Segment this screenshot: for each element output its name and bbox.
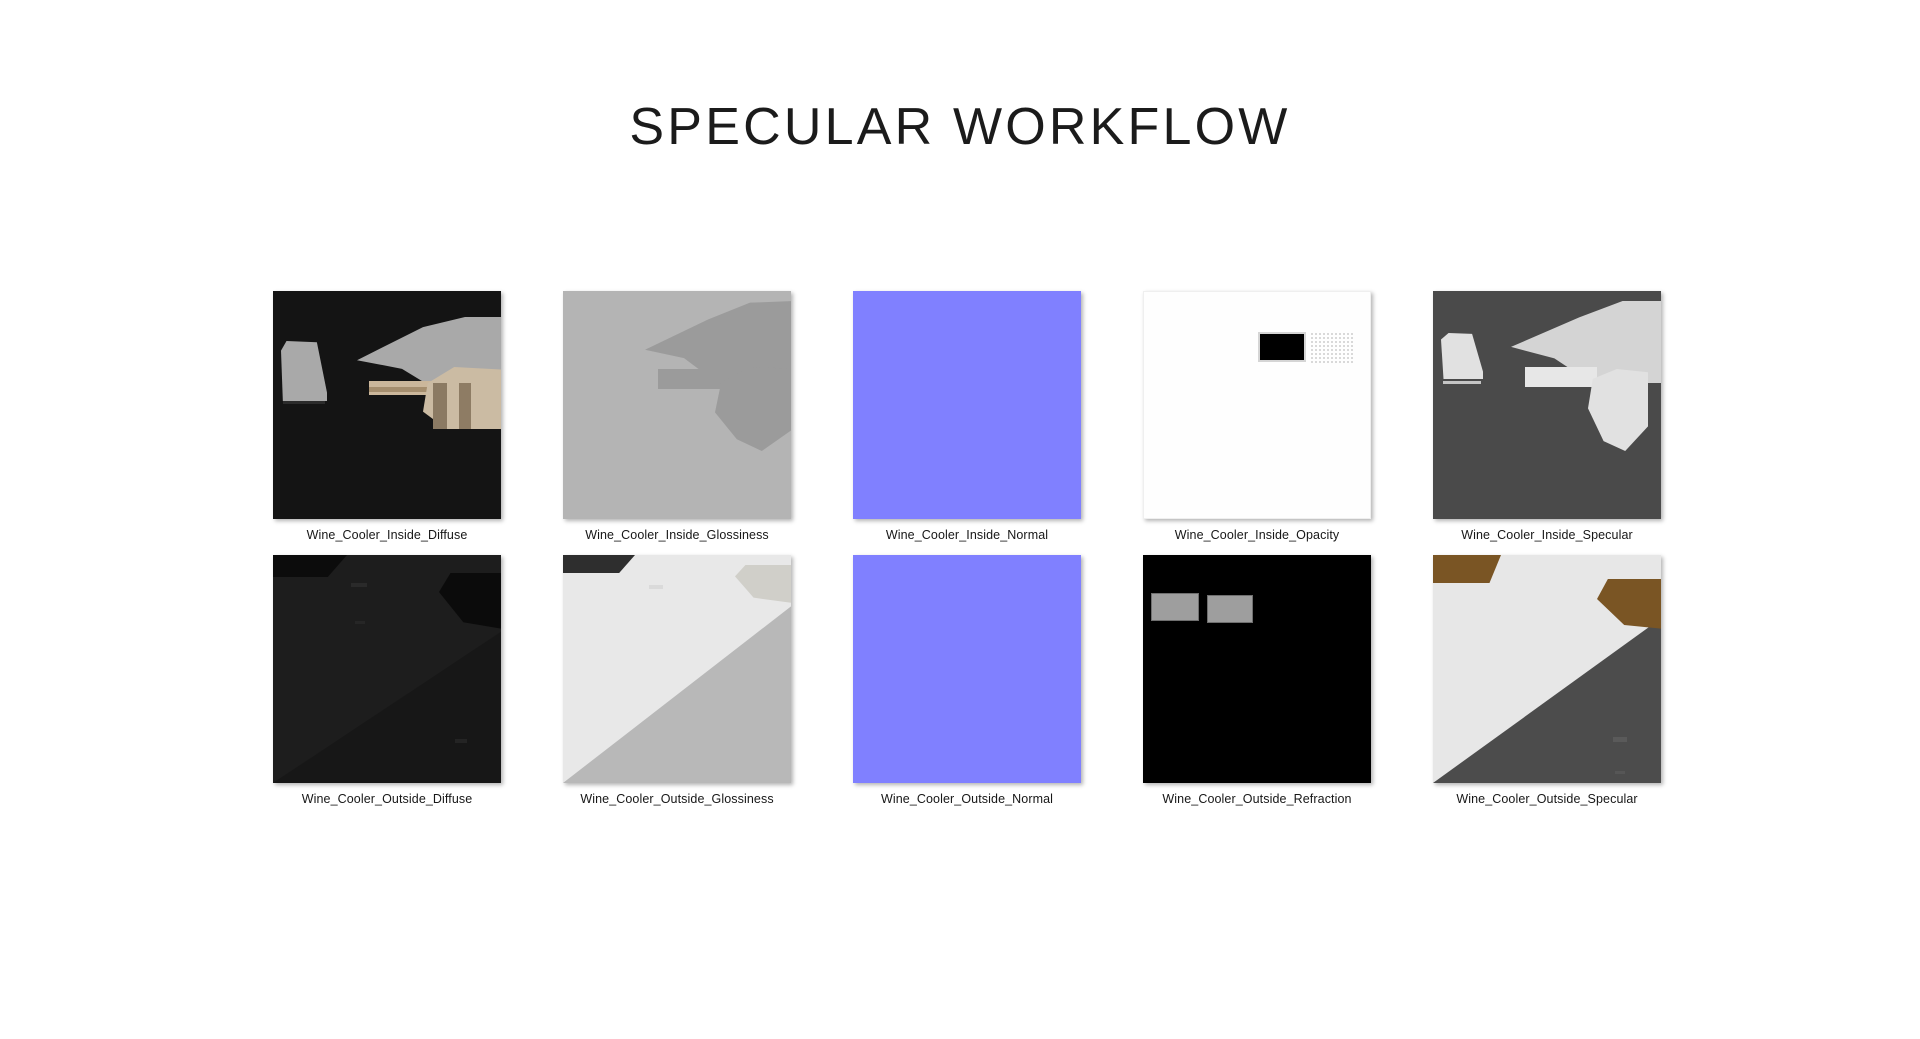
thumbnail-frame[interactable] xyxy=(1432,290,1662,520)
shape-brown-top-left xyxy=(1433,555,1501,583)
thumbnail-frame[interactable] xyxy=(1142,554,1372,784)
thumbnail-frame[interactable] xyxy=(852,554,1082,784)
thumbnail-frame[interactable] xyxy=(272,554,502,784)
texture-label: Wine_Cooler_Inside_Glossiness xyxy=(585,528,769,542)
shape-speck-b xyxy=(355,621,365,624)
texture-preview-outside-diffuse[interactable] xyxy=(273,555,501,783)
page-title: SPECULAR WORKFLOW xyxy=(0,97,1920,157)
texture-cell-outside-diffuse[interactable]: Wine_Cooler_Outside_Diffuse xyxy=(242,554,532,806)
shape-wood-slat-a xyxy=(433,383,447,429)
shape-block xyxy=(1588,369,1648,451)
texture-label: Wine_Cooler_Inside_Specular xyxy=(1461,528,1633,542)
thumbnail-frame[interactable] xyxy=(1432,554,1662,784)
shape-wood-slat-b xyxy=(459,383,471,429)
texture-preview-outside-refraction[interactable] xyxy=(1143,555,1371,783)
texture-preview-inside-specular[interactable] xyxy=(1433,291,1661,519)
shape-speck-a xyxy=(351,583,367,587)
shape-block xyxy=(715,367,791,451)
texture-cell-inside-specular[interactable]: Wine_Cooler_Inside_Specular xyxy=(1402,290,1692,542)
texture-label: Wine_Cooler_Outside_Glossiness xyxy=(580,792,773,806)
shape-top-right-dark xyxy=(439,573,501,629)
texture-preview-outside-glossiness[interactable] xyxy=(563,555,791,783)
shape-speck-c xyxy=(455,739,467,743)
texture-cell-inside-glossiness[interactable]: Wine_Cooler_Inside_Glossiness xyxy=(532,290,822,542)
shape-panel-left xyxy=(1441,333,1483,379)
shape-diagonal xyxy=(563,599,791,783)
texture-cell-inside-diffuse[interactable]: Wine_Cooler_Inside_Diffuse xyxy=(242,290,532,542)
shape-speck-b xyxy=(1615,771,1625,774)
thumbnail-frame[interactable] xyxy=(852,290,1082,520)
shape-bar-left xyxy=(283,401,325,404)
texture-cell-outside-normal[interactable]: Wine_Cooler_Outside_Normal xyxy=(822,554,1112,806)
texture-cell-outside-specular[interactable]: Wine_Cooler_Outside_Specular xyxy=(1402,554,1692,806)
shape-top-right xyxy=(735,565,791,603)
shape-shelf xyxy=(1525,367,1597,387)
shape-speck-a xyxy=(649,585,663,589)
texture-label: Wine_Cooler_Outside_Normal xyxy=(881,792,1053,806)
texture-label: Wine_Cooler_Inside_Normal xyxy=(886,528,1048,542)
texture-preview-inside-opacity[interactable] xyxy=(1143,291,1371,519)
shape-diagonal xyxy=(273,615,501,783)
texture-preview-outside-specular[interactable] xyxy=(1433,555,1661,783)
shape-bar-left xyxy=(1443,381,1481,384)
texture-label: Wine_Cooler_Inside_Diffuse xyxy=(307,528,468,542)
texture-preview-inside-normal[interactable] xyxy=(853,291,1081,519)
thumbnail-frame[interactable] xyxy=(1142,290,1372,520)
shape-speck-a xyxy=(1613,737,1627,742)
shape-top-left-dark xyxy=(273,555,347,577)
thumbnail-frame[interactable] xyxy=(562,554,792,784)
shape-panel-left xyxy=(281,341,327,401)
shape-dot-grid xyxy=(1310,332,1354,364)
texture-cell-outside-glossiness[interactable]: Wine_Cooler_Outside_Glossiness xyxy=(532,554,822,806)
shape-swatch-a xyxy=(1151,593,1199,621)
texture-map-grid: Wine_Cooler_Inside_Diffuse Wine_Cooler_I… xyxy=(242,290,1692,818)
texture-cell-inside-opacity[interactable]: Wine_Cooler_Inside_Opacity xyxy=(1112,290,1402,542)
thumbnail-frame[interactable] xyxy=(272,290,502,520)
texture-cell-outside-refraction[interactable]: Wine_Cooler_Outside_Refraction xyxy=(1112,554,1402,806)
texture-label: Wine_Cooler_Outside_Diffuse xyxy=(302,792,473,806)
texture-cell-inside-normal[interactable]: Wine_Cooler_Inside_Normal xyxy=(822,290,1112,542)
texture-row-outside: Wine_Cooler_Outside_Diffuse Wine_Cooler_… xyxy=(242,554,1692,806)
shape-brown-top-right xyxy=(1597,579,1661,629)
shape-diagonal xyxy=(1433,615,1661,783)
texture-preview-inside-glossiness[interactable] xyxy=(563,291,791,519)
texture-preview-inside-diffuse[interactable] xyxy=(273,291,501,519)
shape-opaque-rect xyxy=(1258,332,1306,362)
texture-row-inside: Wine_Cooler_Inside_Diffuse Wine_Cooler_I… xyxy=(242,290,1692,542)
texture-label: Wine_Cooler_Inside_Opacity xyxy=(1175,528,1340,542)
texture-label: Wine_Cooler_Outside_Refraction xyxy=(1162,792,1351,806)
texture-label: Wine_Cooler_Outside_Specular xyxy=(1456,792,1637,806)
shape-swatch-b xyxy=(1207,595,1253,623)
thumbnail-frame[interactable] xyxy=(562,290,792,520)
shape-top-left-dark xyxy=(563,555,635,573)
texture-preview-outside-normal[interactable] xyxy=(853,555,1081,783)
